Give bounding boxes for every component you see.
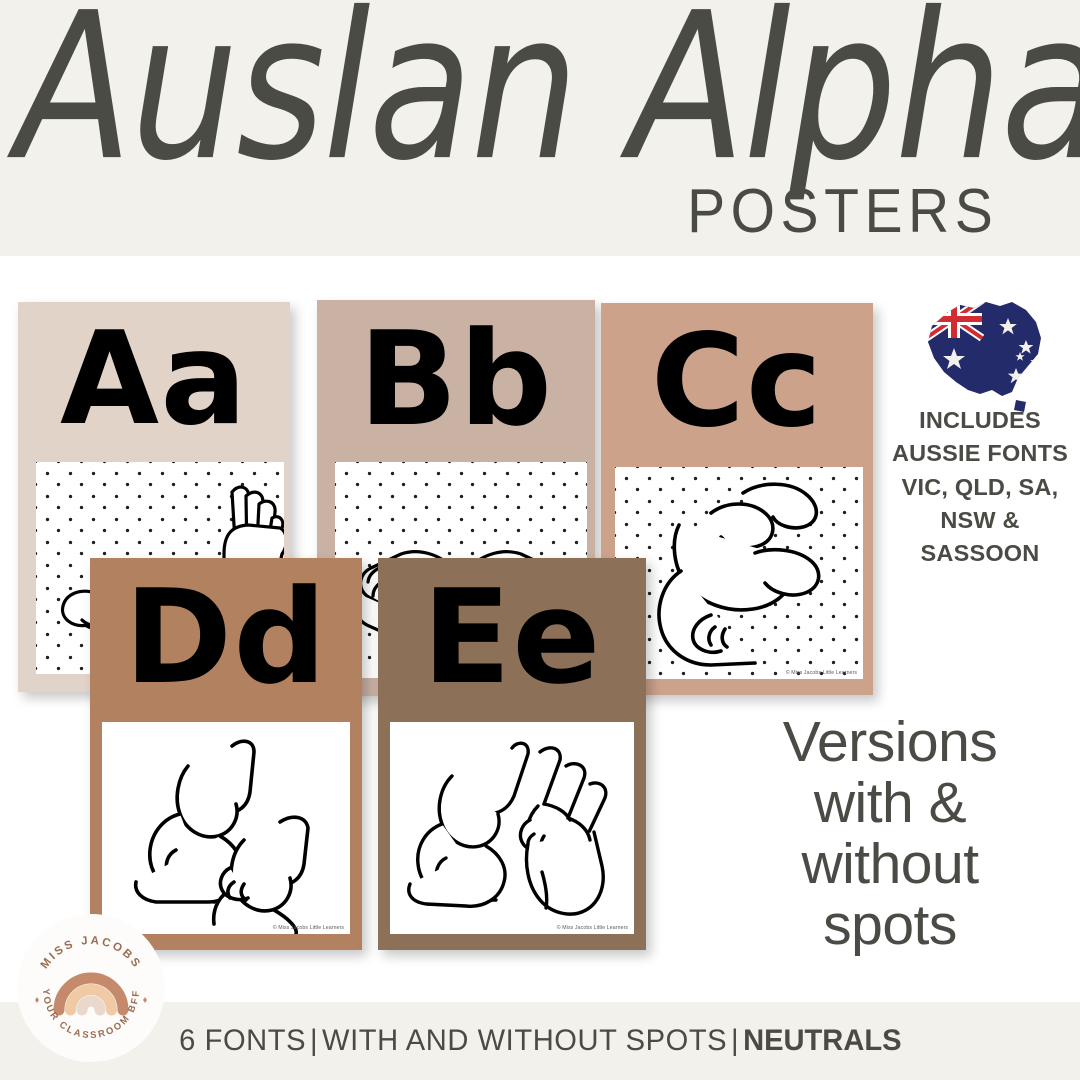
poster-card-e[interactable]: Ee xyxy=(378,558,646,950)
poster-copyright: © Miss Jacobs Little Learners xyxy=(557,925,628,931)
footer-spots-label: WITH AND WITHOUT SPOTS xyxy=(322,1024,727,1057)
versions-line-1: Versions xyxy=(700,712,1080,773)
poster-letters-b: Bb xyxy=(317,300,595,458)
versions-line-4: spots xyxy=(700,895,1080,956)
poster-copyright: © Miss Jacobs Little Learners xyxy=(786,670,857,676)
versions-line-2: with & xyxy=(700,773,1080,834)
poster-letters-c: Cc xyxy=(601,303,873,461)
includes-fonts-text: INCLUDES AUSSIE FONTS VIC, QLD, SA, NSW … xyxy=(880,404,1080,571)
auslan-hand-e-icon xyxy=(390,722,634,934)
footer-caption: 6 FONTS|WITH AND WITHOUT SPOTS|NEUTRALS xyxy=(179,1024,901,1058)
poster-image-panel-c: © Miss Jacobs Little Learners xyxy=(615,467,863,679)
poster-letters-d: Dd xyxy=(90,558,362,716)
poster-card-d[interactable]: Dd xyxy=(90,558,362,950)
australia-flag-map-icon xyxy=(908,296,1058,418)
footer-separator-1: | xyxy=(306,1024,322,1057)
versions-line-3: without xyxy=(700,834,1080,895)
includes-line-1: INCLUDES xyxy=(880,404,1080,437)
auslan-hand-d-icon xyxy=(102,722,350,934)
page-title: Auslan Alphabet xyxy=(16,0,1056,189)
includes-line-3: VIC, QLD, SA, xyxy=(880,471,1080,504)
page-subtitle: POSTERS xyxy=(687,176,998,247)
product-listing-image: Auslan Alphabet POSTERS Aa xyxy=(0,0,1080,1080)
versions-with-without-spots-text: Versions with & without spots xyxy=(700,712,1080,956)
header-band: Auslan Alphabet POSTERS xyxy=(0,0,1080,256)
includes-line-2: AUSSIE FONTS xyxy=(880,437,1080,470)
footer-fonts-count: 6 FONTS xyxy=(179,1024,306,1057)
rainbow-arch-icon xyxy=(59,978,123,1010)
poster-letters-a: Aa xyxy=(18,302,290,458)
poster-image-panel-e: © Miss Jacobs Little Learners xyxy=(390,722,634,934)
poster-letters-e: Ee xyxy=(378,558,646,716)
auslan-hand-c-icon xyxy=(615,467,863,679)
footer-theme-label: NEUTRALS xyxy=(743,1024,901,1057)
includes-line-5: SASSOON xyxy=(880,537,1080,570)
poster-copyright: © Miss Jacobs Little Learners xyxy=(273,925,344,931)
brand-logo-badge: MISS JACOBS YOUR CLASSROOM BFF xyxy=(17,914,165,1062)
footer-separator-2: | xyxy=(727,1024,743,1057)
poster-image-panel-d: © Miss Jacobs Little Learners xyxy=(102,722,350,934)
includes-line-4: NSW & xyxy=(880,504,1080,537)
